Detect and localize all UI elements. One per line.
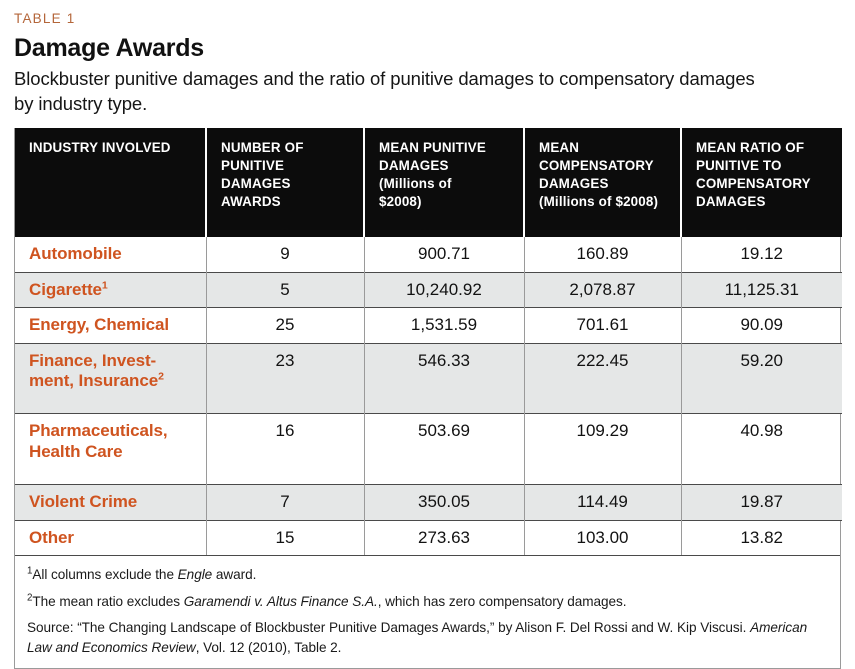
cell-awards: 7 [206, 485, 364, 520]
header-line-3: COMPENSATORY [696, 176, 811, 191]
footnote-1-pre: All columns exclude the [32, 567, 177, 582]
column-header-mean-compensatory: MEAN COMPENSATORY DAMAGES (Millions of $… [524, 128, 681, 237]
table-body: Automobile 9 900.71 160.89 19.12 Cigaret… [15, 237, 842, 555]
table-row: Automobile 9 900.71 160.89 19.12 [15, 237, 842, 272]
cell-industry: Cigarette1 [15, 272, 206, 307]
cell-awards: 5 [206, 272, 364, 307]
header-line-1: NUMBER OF [221, 140, 304, 155]
header-line-1: INDUSTRY INVOLVED [29, 140, 171, 155]
column-header-mean-punitive: MEAN PUNITIVE DAMAGES (Millions of $2008… [364, 128, 524, 237]
header-line-4: (Millions of $2008) [539, 194, 658, 209]
industry-label: Finance, Invest- [29, 351, 156, 370]
source-text: Source: “The Changing Landscape of Block… [27, 620, 746, 635]
cell-awards: 9 [206, 237, 364, 272]
footnote-marker: 2 [158, 370, 164, 382]
cell-mean-ratio: 11,125.31 [681, 272, 842, 307]
column-header-industry: INDUSTRY INVOLVED [15, 128, 206, 237]
cell-mean-compensatory: 114.49 [524, 485, 681, 520]
industry-label: Cigarette [29, 280, 102, 299]
table-figure-page: TABLE 1 Damage Awards Blockbuster puniti… [0, 0, 855, 652]
cell-mean-ratio: 40.98 [681, 414, 842, 485]
cell-mean-punitive: 503.69 [364, 414, 524, 485]
industry-label-line2: ment, Insurance [29, 371, 158, 390]
header-line-3: DAMAGES [221, 176, 291, 191]
industry-label: Pharmaceuticals, [29, 421, 168, 440]
table-header-row: INDUSTRY INVOLVED NUMBER OF PUNITIVE DAM… [15, 128, 842, 237]
footnote-2: 2The mean ratio excludes Garamendi v. Al… [27, 592, 828, 612]
column-header-number-of-awards: NUMBER OF PUNITIVE DAMAGES AWARDS [206, 128, 364, 237]
cell-awards: 23 [206, 343, 364, 414]
table-subtitle: Blockbuster punitive damages and the rat… [14, 67, 769, 116]
footnote-1-post: award. [212, 567, 256, 582]
table-header: INDUSTRY INVOLVED NUMBER OF PUNITIVE DAM… [15, 128, 842, 237]
cell-awards: 25 [206, 308, 364, 343]
footnote-2-post: , which has zero compensatory damages. [378, 594, 627, 609]
table-row: Cigarette1 5 10,240.92 2,078.87 11,125.3… [15, 272, 842, 307]
column-header-mean-ratio: MEAN RATIO OF PUNITIVE TO COMPENSATORY D… [681, 128, 842, 237]
page-title: Damage Awards [14, 34, 841, 62]
cell-awards: 15 [206, 520, 364, 555]
cell-mean-compensatory: 701.61 [524, 308, 681, 343]
header-line-3: DAMAGES [539, 176, 609, 191]
table-row: Energy, Chemical 25 1,531.59 701.61 90.0… [15, 308, 842, 343]
cell-industry: Violent Crime [15, 485, 206, 520]
cell-industry: Automobile [15, 237, 206, 272]
damage-awards-table: INDUSTRY INVOLVED NUMBER OF PUNITIVE DAM… [15, 128, 842, 555]
header-line-4: DAMAGES [696, 194, 766, 209]
industry-label-line2: Health Care [29, 442, 123, 461]
cell-mean-ratio: 19.12 [681, 237, 842, 272]
footnote-2-italic: Garamendi v. Altus Finance S.A. [184, 594, 378, 609]
table-kicker: TABLE 1 [14, 0, 841, 27]
cell-industry: Energy, Chemical [15, 308, 206, 343]
cell-awards: 16 [206, 414, 364, 485]
footnote-1-italic: Engle [178, 567, 213, 582]
cell-mean-compensatory: 160.89 [524, 237, 681, 272]
table-row: Violent Crime 7 350.05 114.49 19.87 [15, 485, 842, 520]
table-row: Pharmaceuticals,Health Care 16 503.69 10… [15, 414, 842, 485]
cell-mean-ratio: 59.20 [681, 343, 842, 414]
cell-mean-punitive: 900.71 [364, 237, 524, 272]
header-line-1: MEAN PUNITIVE [379, 140, 486, 155]
footnote-2-pre: The mean ratio excludes [32, 594, 183, 609]
cell-mean-punitive: 10,240.92 [364, 272, 524, 307]
damage-awards-table-wrapper: INDUSTRY INVOLVED NUMBER OF PUNITIVE DAM… [14, 128, 841, 669]
header-line-2: PUNITIVE TO [696, 158, 782, 173]
table-row: Finance, Invest-ment, Insurance2 23 546.… [15, 343, 842, 414]
cell-mean-ratio: 13.82 [681, 520, 842, 555]
header-line-4: $2008) [379, 194, 422, 209]
footnote-marker: 1 [102, 279, 108, 291]
cell-industry: Other [15, 520, 206, 555]
cell-mean-punitive: 1,531.59 [364, 308, 524, 343]
table-footnotes: 1All columns exclude the Engle award. 2T… [15, 555, 840, 668]
cell-mean-punitive: 546.33 [364, 343, 524, 414]
cell-mean-ratio: 19.87 [681, 485, 842, 520]
header-line-1: MEAN [539, 140, 579, 155]
footnote-1: 1All columns exclude the Engle award. [27, 565, 828, 585]
cell-mean-compensatory: 2,078.87 [524, 272, 681, 307]
cell-mean-compensatory: 109.29 [524, 414, 681, 485]
header-line-2: DAMAGES [379, 158, 449, 173]
cell-mean-compensatory: 222.45 [524, 343, 681, 414]
header-line-1: MEAN RATIO OF [696, 140, 804, 155]
cell-mean-compensatory: 103.00 [524, 520, 681, 555]
header-line-4: AWARDS [221, 194, 281, 209]
header-line-3: (Millions of [379, 176, 452, 191]
header-line-2: PUNITIVE [221, 158, 284, 173]
industry-label: Automobile [29, 244, 122, 263]
header-line-2: COMPENSATORY [539, 158, 654, 173]
industry-label: Violent Crime [29, 492, 137, 511]
source-volume: , Vol. 12 (2010), Table 2. [196, 640, 342, 655]
cell-mean-punitive: 350.05 [364, 485, 524, 520]
cell-mean-ratio: 90.09 [681, 308, 842, 343]
cell-industry: Pharmaceuticals,Health Care [15, 414, 206, 485]
industry-label: Other [29, 528, 74, 547]
table-row: Other 15 273.63 103.00 13.82 [15, 520, 842, 555]
cell-industry: Finance, Invest-ment, Insurance2 [15, 343, 206, 414]
cell-mean-punitive: 273.63 [364, 520, 524, 555]
industry-label: Energy, Chemical [29, 315, 169, 334]
